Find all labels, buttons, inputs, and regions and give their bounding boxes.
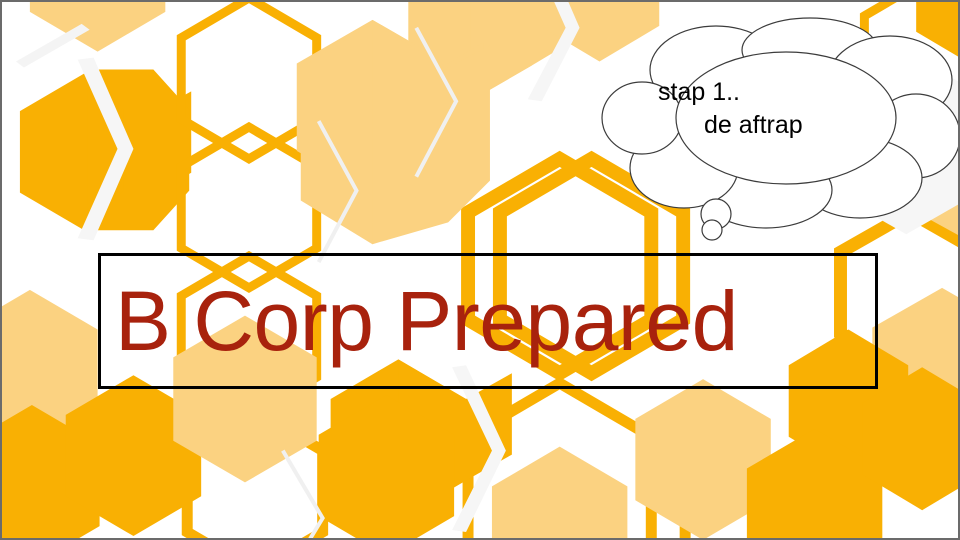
thought-bubble-line-2: de aftrap [658,109,908,142]
thought-bubble-line-1: stap 1.. [658,78,740,106]
slide-canvas: stap 1.. de aftrap B Corp Prepared [0,0,960,540]
bubble-tail-small [702,220,722,240]
slide-title: B Corp Prepared [101,279,738,363]
thought-bubble-text: stap 1.. de aftrap [658,76,908,143]
thought-bubble: stap 1.. de aftrap [598,18,958,242]
slide-title-box: B Corp Prepared [98,253,878,389]
